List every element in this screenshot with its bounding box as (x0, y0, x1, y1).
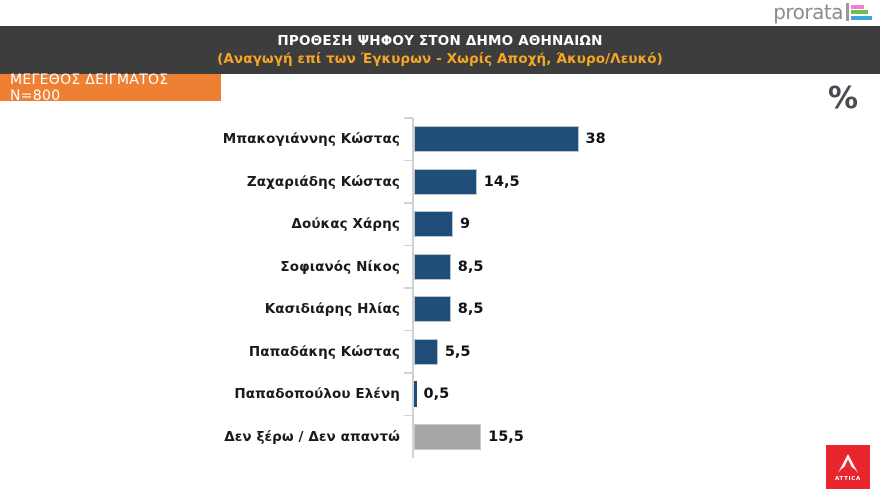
title-band: ΠΡΟΘΕΣΗ ΨΗΦΟΥ ΣΤΟΝ ΔΗΜΟ ΑΘΗΝΑΙΩΝ (Αναγωγ… (0, 26, 880, 74)
axis-tick (404, 117, 413, 119)
attica-logo-icon: ATTICA (826, 445, 870, 489)
bar-and-value: 8,5 (414, 254, 483, 280)
logo-bar-blue (851, 16, 872, 20)
bar-and-value: 8,5 (414, 296, 483, 322)
bar-row: Μπακογιάννης Κώστας38 (0, 118, 880, 161)
bar-and-value: 0,5 (414, 381, 449, 407)
bar (414, 254, 451, 280)
bar-and-value: 5,5 (414, 339, 471, 365)
bar-category-label: Δεν ξέρω / Δεν απαντώ (0, 429, 400, 445)
axis-tick (404, 415, 413, 417)
prorata-wordmark: prorata (773, 2, 843, 22)
attica-wordmark: ATTICA (835, 476, 861, 482)
page-subtitle: (Αναγωγή επί των Έγκυρων - Χωρίς Αποχή, … (217, 50, 663, 68)
bar (414, 381, 417, 407)
logo-stem (846, 3, 849, 21)
poll-chart-slide: prorata ΠΡΟΘΕΣΗ ΨΗΦΟΥ ΣΤΟΝ ΔΗΜΟ ΑΘΗΝΑΙΩΝ… (0, 0, 880, 495)
bar-category-label: Παπαδοπούλου Ελένη (0, 386, 400, 402)
axis-tick (404, 160, 413, 162)
bar-and-value: 9 (414, 211, 470, 237)
bar-row: Παπαδοπούλου Ελένη0,5 (0, 373, 880, 416)
sample-size-label: ΜΕΓΕΘΟΣ ΔΕΙΓΜΑΤΟΣ N=800 (0, 72, 221, 104)
bar-category-label: Σοφιανός Νίκος (0, 259, 400, 275)
bar-value-label: 14,5 (484, 174, 520, 190)
bar-row: Δούκας Χάρης9 (0, 203, 880, 246)
axis-tick (404, 330, 413, 332)
bar-row: Παπαδάκης Κώστας5,5 (0, 331, 880, 374)
sample-size-band: ΜΕΓΕΘΟΣ ΔΕΙΓΜΑΤΟΣ N=800 (0, 74, 221, 101)
bar-and-value: 15,5 (414, 424, 524, 450)
logo-bar-green (851, 10, 868, 14)
logo-bar-pink (851, 5, 864, 9)
axis-tick (404, 202, 413, 204)
bar (414, 126, 579, 152)
bar-row: Σοφιανός Νίκος8,5 (0, 246, 880, 289)
bar (414, 339, 438, 365)
page-title: ΠΡΟΘΕΣΗ ΨΗΦΟΥ ΣΤΟΝ ΔΗΜΟ ΑΘΗΝΑΙΩΝ (277, 32, 602, 50)
bar-value-label: 9 (460, 216, 470, 232)
bar (414, 211, 453, 237)
bar-category-label: Μπακογιάννης Κώστας (0, 131, 400, 147)
bar-and-value: 38 (414, 126, 606, 152)
bar-chart-logo-icon (846, 3, 872, 21)
axis-tick (404, 245, 413, 247)
axis-tick (404, 287, 413, 289)
bar-value-label: 15,5 (488, 429, 524, 445)
bar-category-label: Δούκας Χάρης (0, 216, 400, 232)
bar (414, 296, 451, 322)
percent-unit-symbol: % (828, 84, 858, 114)
bar-category-label: Κασιδιάρης Ηλίας (0, 301, 400, 317)
bar-category-label: Παπαδάκης Κώστας (0, 344, 400, 360)
bar-category-label: Ζαχαριάδης Κώστας (0, 174, 400, 190)
logo-bars (851, 5, 872, 20)
bar-row: Κασιδιάρης Ηλίας8,5 (0, 288, 880, 331)
bar-row: Ζαχαριάδης Κώστας14,5 (0, 161, 880, 204)
bar (414, 424, 481, 450)
bar-value-label: 5,5 (445, 344, 471, 360)
bar-chart: Μπακογιάννης Κώστας38Ζαχαριάδης Κώστας14… (0, 118, 880, 458)
bar-row: Δεν ξέρω / Δεν απαντώ15,5 (0, 416, 880, 459)
bar-and-value: 14,5 (414, 169, 520, 195)
bar (414, 169, 477, 195)
prorata-logo: prorata (773, 2, 872, 22)
bar-value-label: 0,5 (424, 386, 450, 402)
axis-tick (404, 372, 413, 374)
bar-rows: Μπακογιάννης Κώστας38Ζαχαριάδης Κώστας14… (0, 118, 880, 458)
bar-value-label: 8,5 (458, 301, 484, 317)
bar-value-label: 8,5 (458, 259, 484, 275)
bar-value-label: 38 (586, 131, 606, 147)
